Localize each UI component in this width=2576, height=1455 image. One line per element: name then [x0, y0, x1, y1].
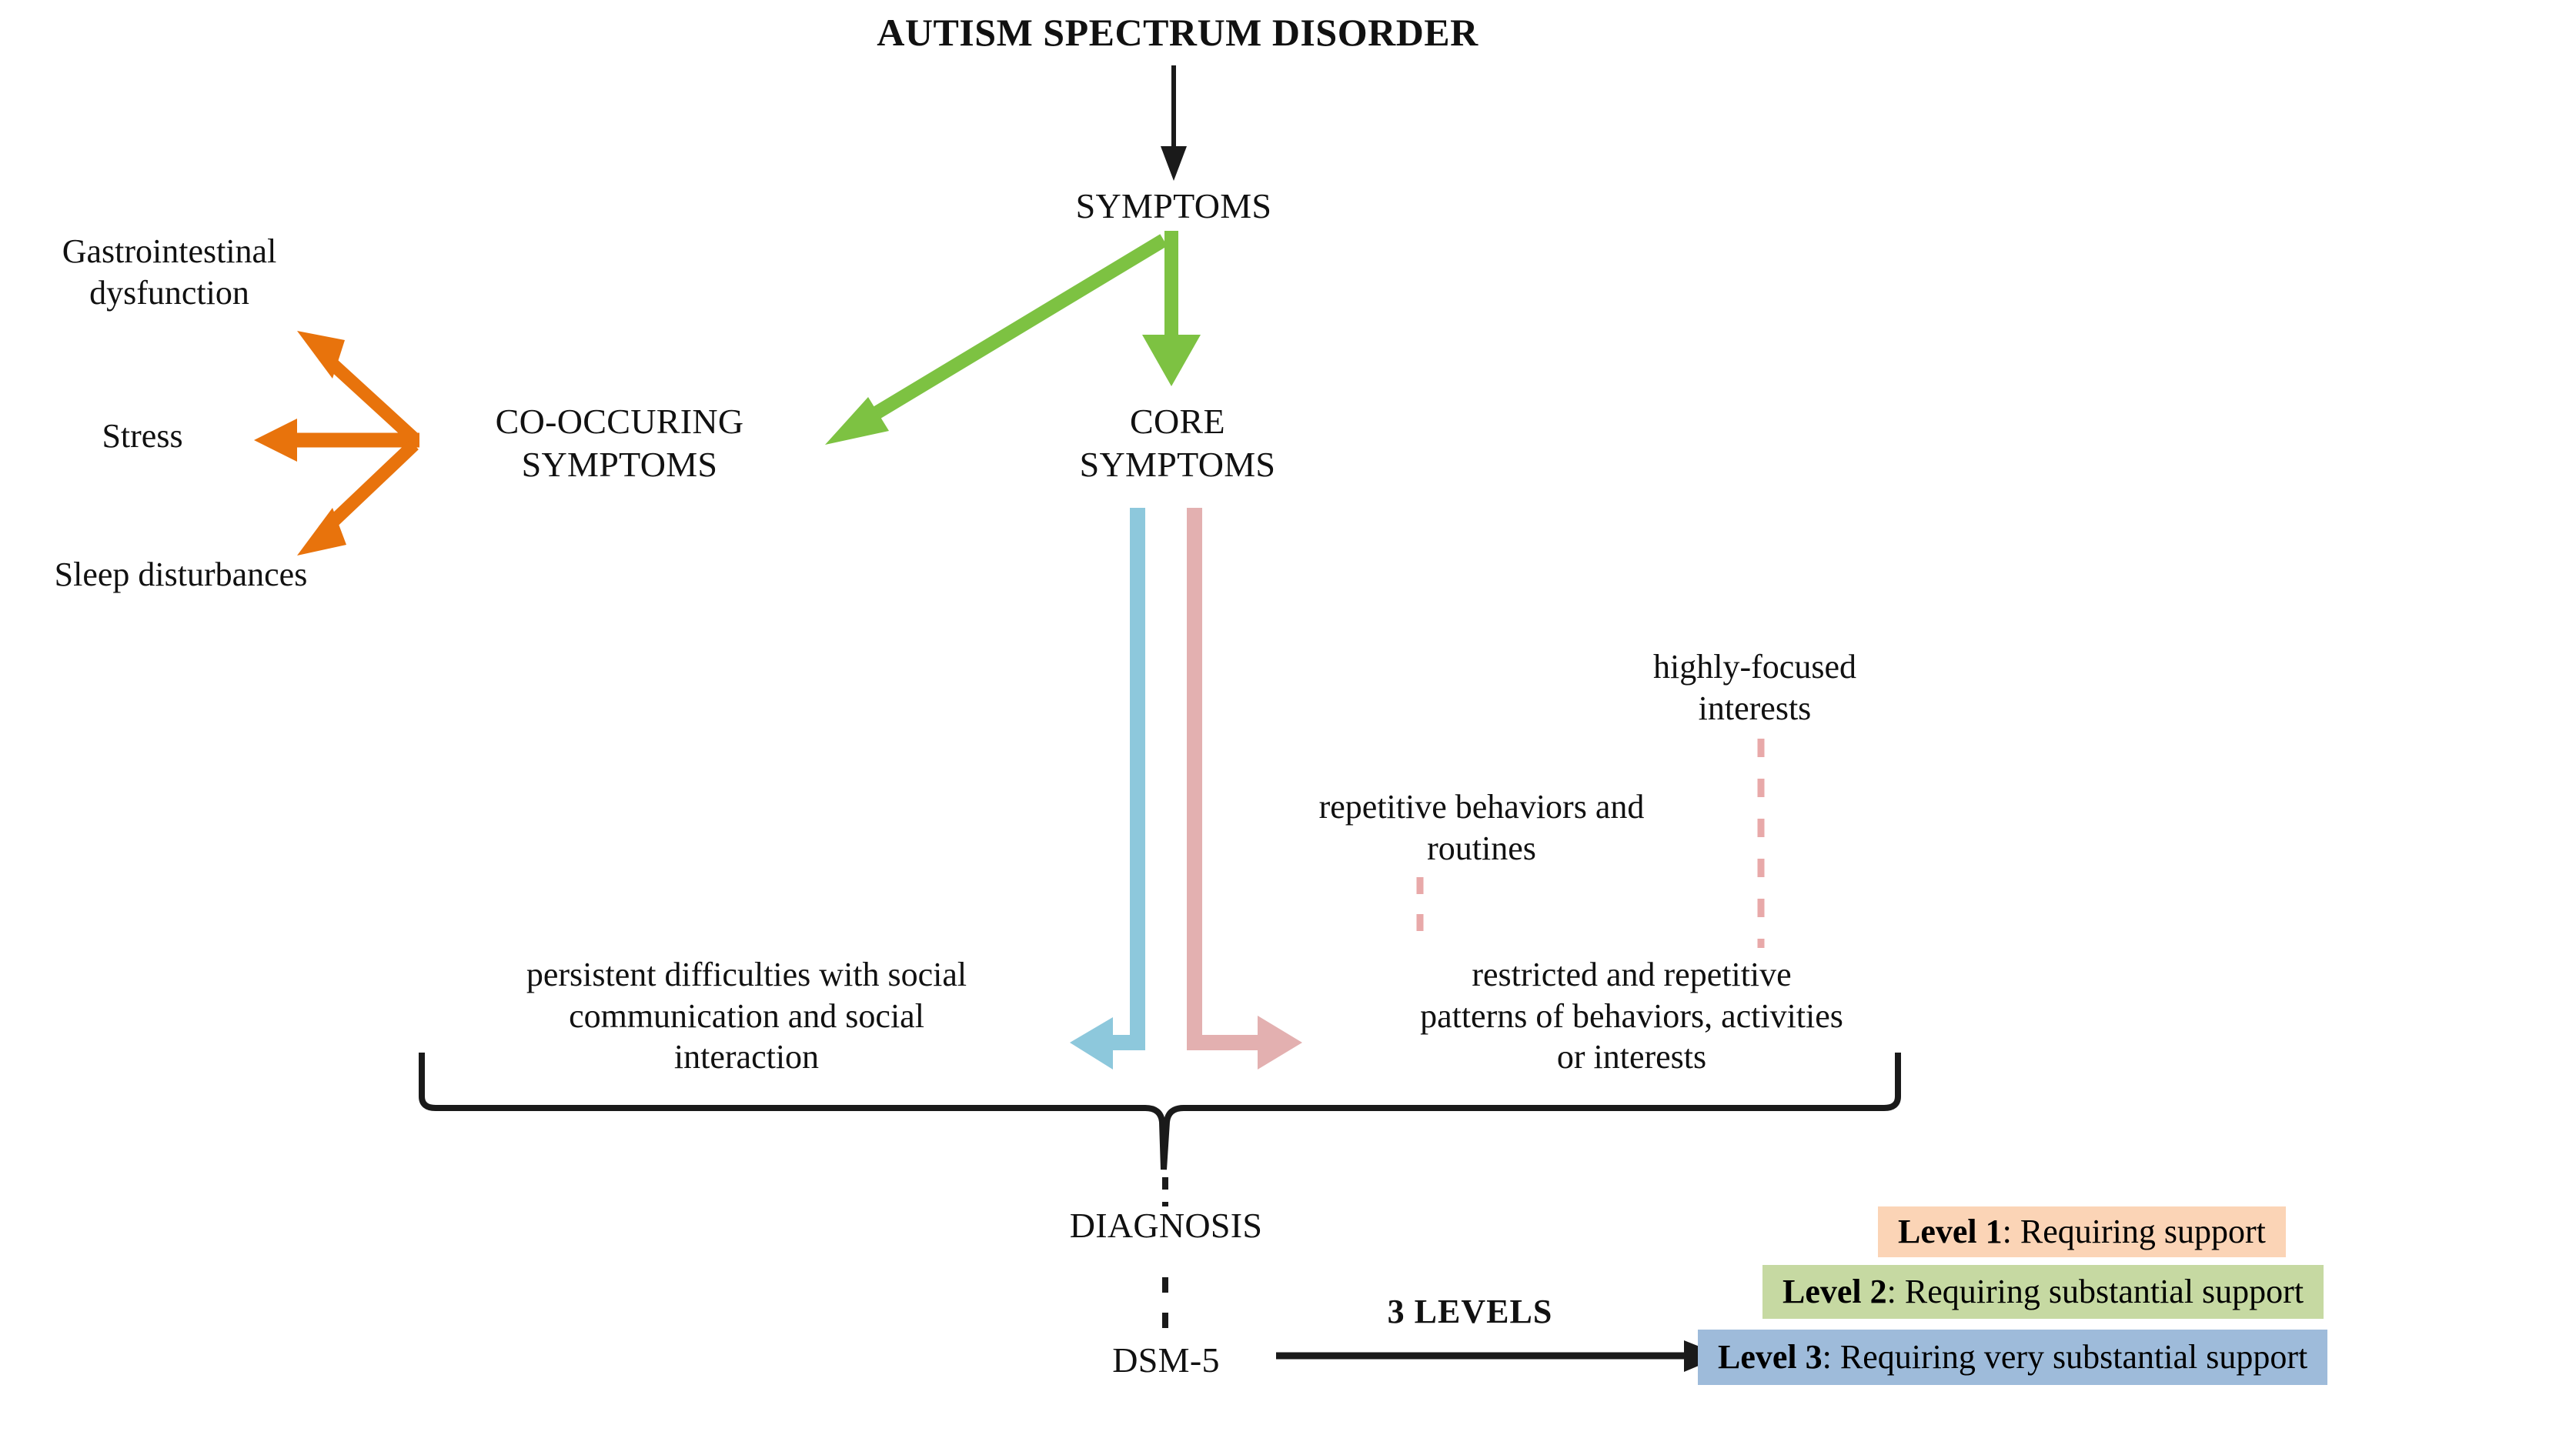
arrow-symptoms-to-core-green [1142, 231, 1201, 386]
criterion-social-communication: persistent difficulties with social comm… [431, 954, 1062, 1078]
label-highly-focused-interests: highly-focused interests [1555, 646, 1955, 729]
node-diagnosis: DIAGNOSIS [993, 1204, 1339, 1247]
level-2-text: : Requiring substantial support [1887, 1272, 2304, 1311]
level-1-text: : Requiring support [2003, 1212, 2266, 1251]
label-gastrointestinal-dysfunction: Gastrointestinal dysfunction [8, 231, 331, 313]
arrow-cooccuring-to-stress-orange [254, 419, 419, 462]
arrow-title-to-symptoms [1161, 65, 1187, 181]
level-box-1: Level 1: Requiring support [1878, 1206, 2286, 1257]
level-box-3: Level 3: Requiring very substantial supp… [1698, 1330, 2327, 1385]
node-dsm-5: DSM-5 [993, 1339, 1339, 1382]
arrow-cooccuring-to-gastrointestinal-orange [297, 331, 414, 439]
label-sleep-disturbances: Sleep disturbances [0, 554, 362, 596]
label-3-levels: 3 LEVELS [1308, 1291, 1632, 1333]
level-3-rank: Level 3 [1718, 1337, 1823, 1377]
node-co-occuring-symptoms: CO-OCCURING SYMPTOMS [439, 400, 800, 486]
node-core-symptoms: CORE SYMPTOMS [1008, 400, 1347, 486]
diagram-canvas: AUTISM SPECTRUM DISORDER SYMPTOMS CO-OCC… [0, 0, 2576, 1455]
criterion-restricted-repetitive: restricted and repetitive patterns of be… [1339, 954, 1924, 1078]
level-3-text: : Requiring very substantial support [1823, 1337, 2308, 1377]
label-repetitive-behaviors-and-routines: repetitive behaviors and routines [1262, 786, 1701, 869]
node-symptoms: SYMPTOMS [1001, 185, 1347, 228]
page-title: AUTISM SPECTRUM DISORDER [785, 9, 1570, 56]
arrow-dsm-to-levels [1276, 1340, 1722, 1372]
level-box-2: Level 2: Requiring substantial support [1762, 1265, 2324, 1319]
arrow-cooccuring-to-sleep-orange [297, 445, 414, 556]
arrow-core-to-social-blue [1070, 508, 1138, 1070]
level-1-rank: Level 1 [1898, 1212, 2003, 1251]
label-stress: Stress [46, 415, 239, 457]
level-2-rank: Level 2 [1782, 1272, 1887, 1311]
